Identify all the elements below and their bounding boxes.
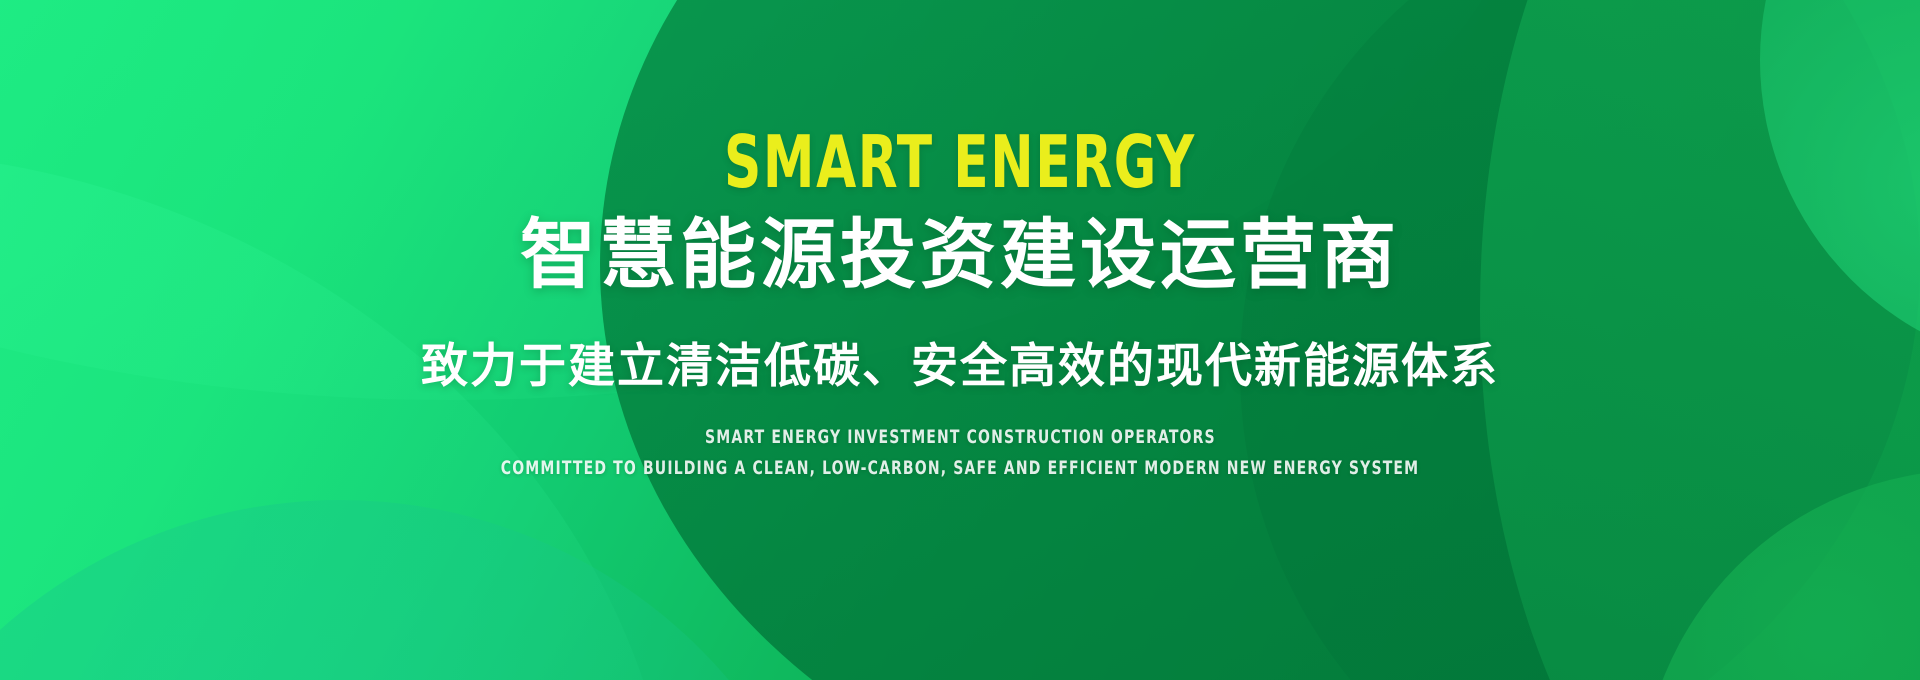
banner-eyebrow-english: SMART ENERGY (724, 126, 1196, 198)
banner-subheadline-chinese: 致力于建立清洁低碳、安全高效的现代新能源体系 (421, 339, 1499, 395)
banner-tagline-english-line2: COMMITTED TO BUILDING A CLEAN, LOW-CARBO… (501, 455, 1419, 483)
banner-tagline-english-line1: SMART ENERGY INVESTMENT CONSTRUCTION OPE… (705, 424, 1216, 452)
hero-banner: SMART ENERGY 智慧能源投资建设运营商 致力于建立清洁低碳、安全高效的… (0, 0, 1920, 680)
banner-content: SMART ENERGY 智慧能源投资建设运营商 致力于建立清洁低碳、安全高效的… (0, 0, 1920, 680)
banner-headline-chinese: 智慧能源投资建设运营商 (520, 212, 1400, 297)
